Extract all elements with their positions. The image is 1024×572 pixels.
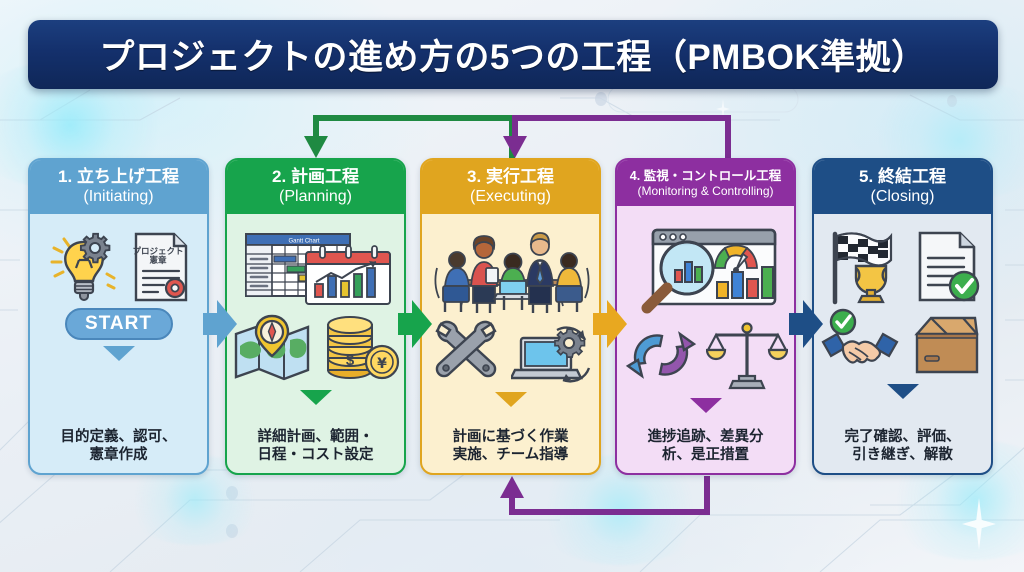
phase-card-closing[interactable]: 5. 終結工程 (Closing) bbox=[812, 158, 993, 475]
phase-summary-executing: 計画に基づく作業 実施、チーム指導 bbox=[422, 428, 599, 473]
laptop-gear-icon bbox=[511, 314, 595, 386]
down-arrow-icon bbox=[495, 392, 527, 407]
phase-title-en: (Initiating) bbox=[34, 187, 203, 206]
phase-body-executing bbox=[422, 214, 599, 428]
phase-summary-monitoring: 進捗追跡、差異分 析、是正措置 bbox=[617, 428, 794, 473]
page-title: プロジェクトの進め方の5つの工程（PMBOK準拠） bbox=[99, 29, 926, 80]
phase-body-planning: Gantt Chart bbox=[227, 214, 404, 428]
delivery-box-icon bbox=[907, 308, 987, 378]
map-compass-icon bbox=[232, 308, 314, 384]
phase-title-en: (Monitoring & Controlling) bbox=[621, 184, 790, 198]
lightbulb-gear-icon bbox=[46, 228, 124, 306]
cycle-arrows-icon bbox=[624, 318, 700, 392]
phase-card-initiating[interactable]: 1. 立ち上げ工程 (Initiating) bbox=[28, 158, 209, 475]
handshake-check-icon bbox=[819, 308, 901, 378]
down-arrow-icon bbox=[300, 390, 332, 405]
down-arrow-icon bbox=[690, 398, 722, 413]
connector-head bbox=[607, 300, 627, 348]
balance-scale-icon bbox=[706, 318, 788, 392]
connector-2-3 bbox=[398, 300, 432, 348]
phase-header-executing: 3. 実行工程 (Executing) bbox=[422, 160, 599, 214]
phase-body-monitoring bbox=[617, 206, 794, 427]
checkered-flag-trophy-icon bbox=[822, 228, 906, 306]
tools-wrench-screwdriver-icon bbox=[427, 314, 505, 386]
phase-card-executing[interactable]: 3. 実行工程 (Executing) bbox=[420, 158, 601, 475]
phase-header-closing: 5. 終結工程 (Closing) bbox=[814, 160, 991, 214]
phase-summary-planning: 詳細計画、範囲・ 日程・コスト設定 bbox=[227, 428, 404, 473]
connector-head bbox=[412, 300, 432, 348]
project-charter-document-icon: プロジェクト 憲章 bbox=[130, 228, 192, 306]
gantt-chart-title: Gantt Chart bbox=[288, 239, 319, 245]
phase-title-en: (Executing) bbox=[426, 187, 595, 206]
phase-summary-initiating: 目的定義、認可、 憲章作成 bbox=[30, 428, 207, 473]
phase-header-monitoring: 4. 監視・コントロール工程 (Monitoring & Controlling… bbox=[617, 160, 794, 206]
yen-symbol: ¥ bbox=[377, 356, 387, 372]
page-title-bar: プロジェクトの進め方の5つの工程（PMBOK準拠） bbox=[28, 20, 998, 89]
phase-title-en: (Closing) bbox=[818, 187, 987, 206]
phase-header-planning: 2. 計画工程 (Planning) bbox=[227, 160, 404, 214]
phase-title-jp: 4. 監視・コントロール工程 bbox=[621, 169, 790, 183]
phase-card-monitoring[interactable]: 4. 監視・コントロール工程 (Monitoring & Controlling… bbox=[615, 158, 796, 475]
down-arrow-icon bbox=[887, 384, 919, 399]
connector-head bbox=[217, 300, 237, 348]
phase-header-initiating: 1. 立ち上げ工程 (Initiating) bbox=[30, 160, 207, 214]
charter-label-line2: 憲章 bbox=[148, 255, 167, 266]
phase-title-jp: 3. 実行工程 bbox=[426, 167, 595, 186]
phase-title-jp: 5. 終結工程 bbox=[818, 167, 987, 186]
down-arrow-icon bbox=[103, 346, 135, 361]
dashboard-magnifier-icon bbox=[631, 224, 781, 316]
dollar-symbol: $ bbox=[345, 352, 354, 369]
connector-3-4 bbox=[593, 300, 627, 348]
team-meeting-icon bbox=[427, 224, 595, 314]
phase-title-en: (Planning) bbox=[231, 187, 400, 206]
phase-body-closing bbox=[814, 214, 991, 428]
phase-summary-closing: 完了確認、評価、 引き継ぎ、解散 bbox=[814, 428, 991, 473]
phase-card-planning[interactable]: 2. 計画工程 (Planning) Gantt Chart bbox=[225, 158, 406, 475]
connector-head bbox=[803, 300, 823, 348]
coins-stack-icon: $ ¥ bbox=[320, 308, 400, 384]
phase-title-jp: 1. 立ち上げ工程 bbox=[34, 167, 203, 186]
phase-title-jp: 2. 計画工程 bbox=[231, 167, 400, 186]
gantt-chart-icon: Gantt Chart bbox=[236, 226, 396, 310]
start-badge[interactable]: START bbox=[65, 308, 173, 340]
document-check-icon bbox=[912, 228, 984, 306]
phase-body-initiating: プロジェクト 憲章 START bbox=[30, 214, 207, 428]
connector-4-5 bbox=[789, 300, 823, 348]
connector-1-2 bbox=[203, 300, 237, 348]
